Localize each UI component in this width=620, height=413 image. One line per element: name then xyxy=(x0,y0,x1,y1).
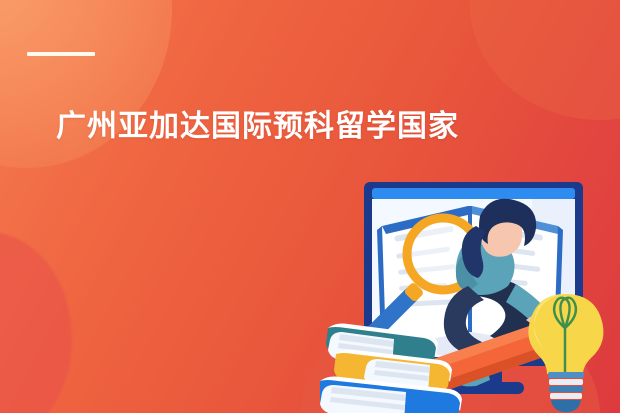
banner-headline: 广州亚加达国际预科留学国家 xyxy=(56,108,459,146)
promo-banner: 广州亚加达国际预科留学国家 xyxy=(0,0,620,413)
lightbulb-base xyxy=(548,372,584,412)
lightbulb xyxy=(528,294,603,412)
accent-rule xyxy=(27,52,95,56)
online-study-research-illustration xyxy=(320,182,620,413)
